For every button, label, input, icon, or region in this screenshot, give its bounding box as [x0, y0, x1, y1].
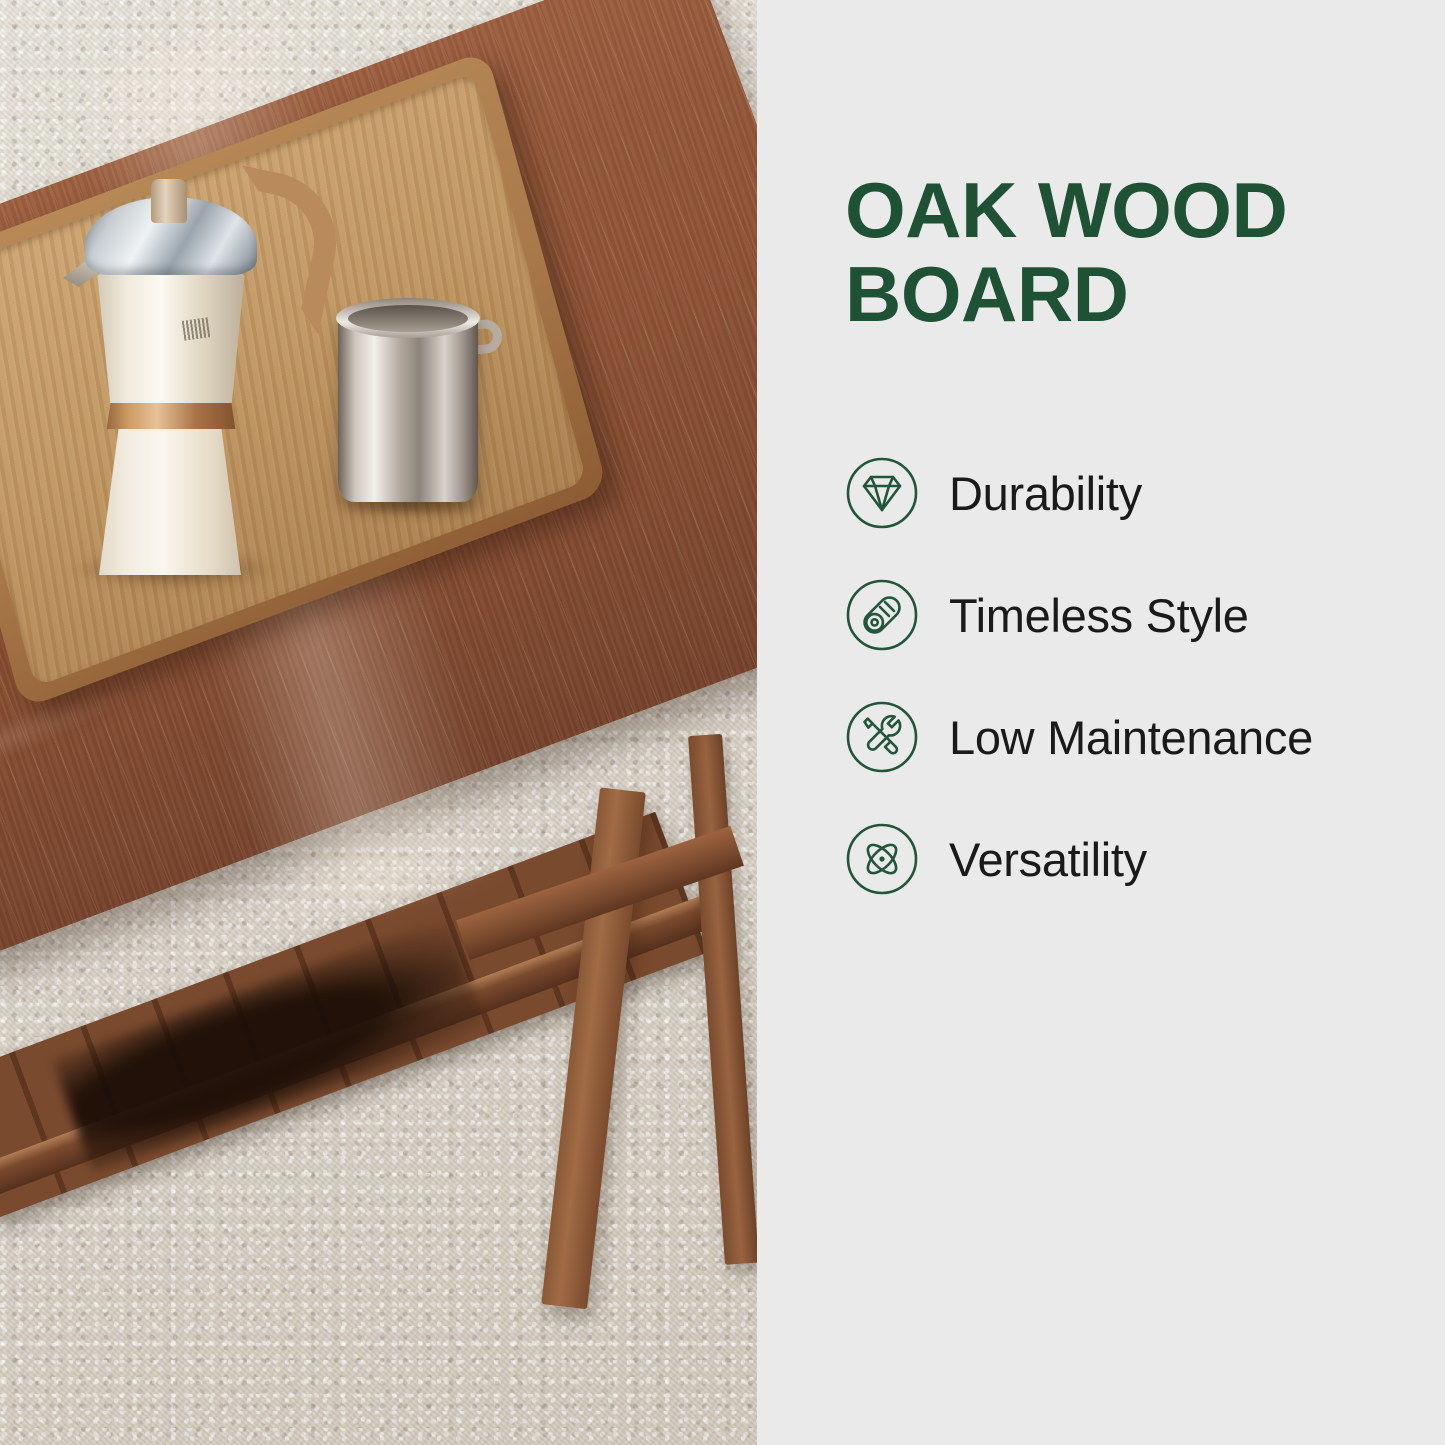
wood-log-icon [845, 578, 919, 652]
product-photo [0, 0, 757, 1445]
atom-icon [845, 822, 919, 896]
feature-label: Low Maintenance [949, 714, 1313, 761]
cup-body [338, 310, 478, 502]
moka-pot [55, 160, 285, 575]
moka-pot-upper [91, 258, 251, 403]
stainless-steel-cup [330, 292, 490, 507]
feature-item-timeless-style: Timeless Style [845, 578, 1405, 652]
tools-icon [845, 700, 919, 774]
page-title: OAK WOOD BOARD [845, 168, 1405, 336]
feature-item-durability: Durability [845, 456, 1405, 530]
moka-pot-knob [151, 179, 187, 223]
content-panel: OAK WOOD BOARD Durability [757, 0, 1445, 1445]
diamond-icon [845, 456, 919, 530]
feature-item-versatility: Versatility [845, 822, 1405, 896]
feature-label: Durability [949, 470, 1142, 517]
cup-interior [348, 305, 468, 332]
moka-pot-band [101, 401, 241, 429]
feature-label: Timeless Style [949, 592, 1249, 639]
moka-pot-base [79, 425, 261, 575]
feature-label: Versatility [949, 836, 1147, 883]
product-feature-banner: OAK WOOD BOARD Durability [0, 0, 1445, 1445]
feature-item-low-maintenance: Low Maintenance [845, 700, 1405, 774]
moka-pot-logo [182, 317, 211, 340]
feature-list: Durability Timeless Style [845, 456, 1405, 896]
